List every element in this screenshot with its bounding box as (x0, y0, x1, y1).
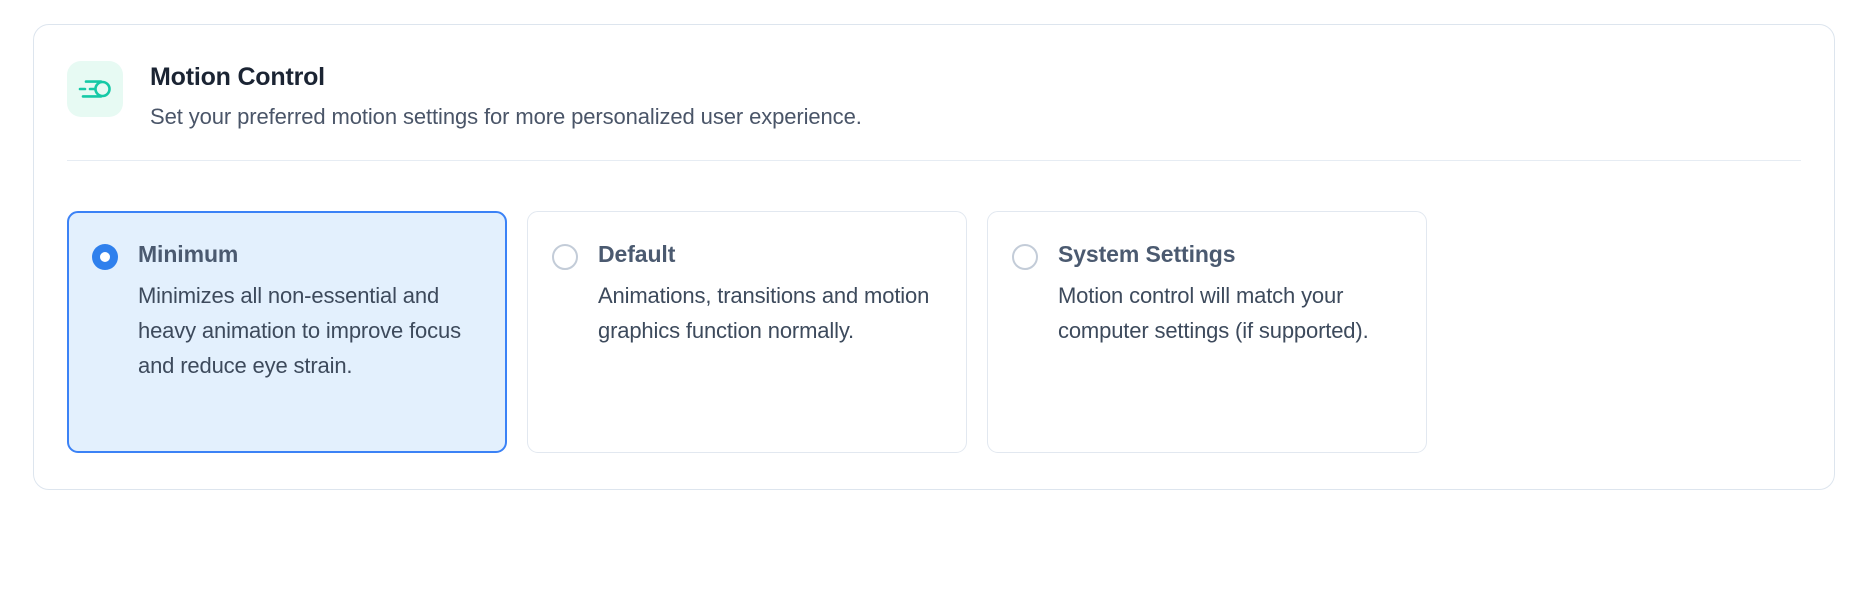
page-title: Motion Control (150, 61, 862, 93)
motion-speed-icon (67, 61, 123, 117)
option-title-system-settings: System Settings (1058, 239, 1398, 269)
motion-control-panel: Motion Control Set your preferred motion… (33, 24, 1835, 490)
option-card-system-settings[interactable]: System Settings Motion control will matc… (987, 211, 1427, 453)
option-description-system-settings: Motion control will match your computer … (1058, 278, 1398, 348)
option-title-minimum: Minimum (138, 239, 478, 269)
option-description-minimum: Minimizes all non-essential and heavy an… (138, 278, 478, 383)
radio-icon-minimum[interactable] (92, 244, 118, 270)
page-subtitle: Set your preferred motion settings for m… (150, 102, 862, 132)
option-description-default: Animations, transitions and motion graph… (598, 278, 938, 348)
option-text-default: Default Animations, transitions and moti… (598, 239, 938, 348)
page-root: Motion Control Set your preferred motion… (0, 0, 1868, 614)
option-title-default: Default (598, 239, 938, 269)
option-text-system-settings: System Settings Motion control will matc… (1058, 239, 1398, 348)
radio-icon-default[interactable] (552, 244, 578, 270)
option-text-minimum: Minimum Minimizes all non-essential and … (138, 239, 478, 383)
motion-options-group: Minimum Minimizes all non-essential and … (34, 161, 1834, 453)
header-texts: Motion Control Set your preferred motion… (150, 59, 862, 132)
panel-header: Motion Control Set your preferred motion… (34, 25, 1834, 132)
option-card-minimum[interactable]: Minimum Minimizes all non-essential and … (67, 211, 507, 453)
option-card-default[interactable]: Default Animations, transitions and moti… (527, 211, 967, 453)
radio-icon-system-settings[interactable] (1012, 244, 1038, 270)
